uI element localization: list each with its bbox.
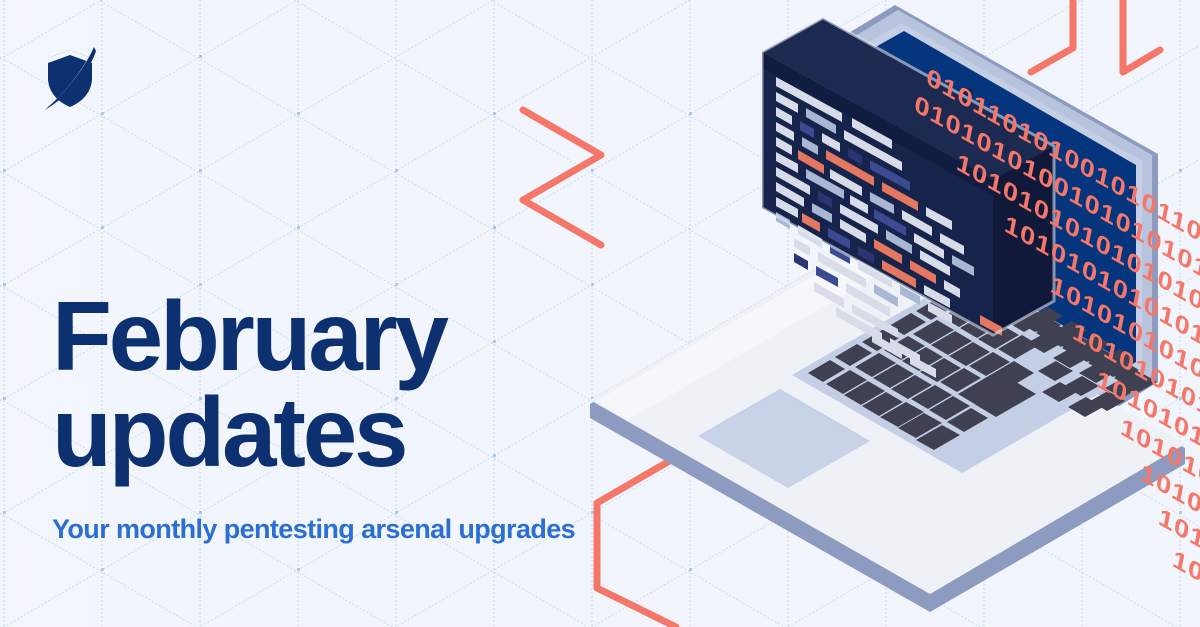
page-title: February updates: [52, 288, 672, 480]
shield-swoosh-logo[interactable]: [44, 44, 96, 110]
webcam-led-icon: [977, 97, 983, 102]
isometric-laptop-illustration: [580, 0, 1200, 627]
hero-text-block: February updates Your monthly pentesting…: [52, 288, 672, 545]
page-subtitle: Your monthly pentesting arsenal upgrades: [52, 480, 672, 545]
marketing-banner: 01011010100101011010101010101010 0101010…: [0, 0, 1200, 627]
